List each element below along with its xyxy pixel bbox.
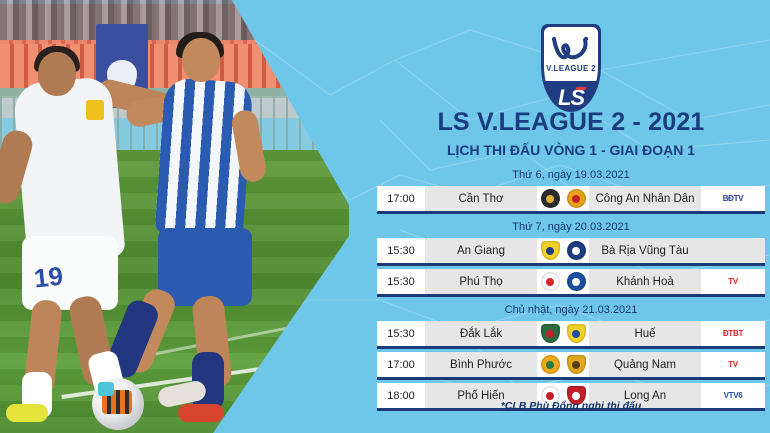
- dtbt-logo: ĐTBT: [723, 329, 743, 338]
- player-blue-boot-right: [178, 404, 224, 422]
- broadcaster-cell: BĐTV: [701, 186, 765, 211]
- ba-ria-vung-tau-crest: [567, 241, 586, 260]
- cong-an-nhan-dan-crest: [567, 189, 586, 208]
- home-team-name: Bình Phước: [425, 352, 537, 377]
- home-team-name: Phú Thọ: [425, 269, 537, 294]
- page-title: LS V.LEAGUE 2 - 2021: [372, 110, 770, 135]
- away-crest-cell: [563, 352, 589, 377]
- binh-phuoc-crest: [541, 355, 560, 374]
- player-white-shirt-number: 19: [32, 261, 64, 295]
- sponsor-mark-text: LS: [544, 85, 598, 109]
- broadcaster-cell: [701, 238, 765, 263]
- match-row[interactable]: 15:30An GiangBà Rịa Vũng Tàu: [377, 238, 765, 266]
- an-giang-crest: [541, 241, 560, 260]
- away-crest-cell: [563, 186, 589, 211]
- away-crest-cell: [563, 321, 589, 346]
- date-header: Thứ 7, ngày 20.03.2021: [377, 217, 765, 238]
- away-team-name: Khánh Hoà: [589, 269, 701, 294]
- broadcaster-cell: TV: [701, 352, 765, 377]
- football-icon: [92, 378, 144, 430]
- home-crest-cell: [537, 238, 563, 263]
- schedule-panel: V.LEAGUE 2 LS LS V.LEAGUE 2 - 2021 LỊCH …: [372, 0, 770, 433]
- away-team-name: Quảng Nam: [589, 352, 701, 377]
- footnote-text: *CLB Phù Đổng nghi thi đấu: [501, 400, 642, 412]
- player-blue-shorts: [158, 228, 252, 306]
- broadcaster-cell: ĐTBT: [701, 321, 765, 346]
- match-time: 15:30: [377, 321, 425, 346]
- ls-accent-tick: [575, 87, 586, 90]
- red-star-tv-logo: TV: [728, 360, 738, 369]
- home-team-name: Cần Thơ: [425, 186, 537, 211]
- fixtures-table: Thứ 6, ngày 19.03.202117:00Cần ThơCông A…: [377, 165, 765, 414]
- bong-da-tv-logo: BĐTV: [723, 194, 744, 203]
- v-league-swoosh-icon: [551, 35, 591, 63]
- player-white-head: [38, 52, 76, 96]
- broadcaster-cell: TV: [701, 269, 765, 294]
- home-team-name: Đắk Lắk: [425, 321, 537, 346]
- khanh-hoa-crest: [567, 272, 586, 291]
- home-team-name: An Giang: [425, 238, 537, 263]
- footnote: *CLB Phù Đổng nghi thi đấu: [372, 396, 770, 414]
- poster-canvas: 19 V.LEAGUE 2 LS LS V.LEAGUE 2 - 2021 LỊ…: [0, 0, 770, 433]
- v-league-2-ls-shield-logo: V.LEAGUE 2 LS: [541, 24, 601, 112]
- hue-crest: [567, 324, 586, 343]
- away-crest-cell: [563, 269, 589, 294]
- phu-tho-crest: [541, 272, 560, 291]
- match-time: 17:00: [377, 186, 425, 211]
- match-time: 15:30: [377, 238, 425, 263]
- home-crest-cell: [537, 321, 563, 346]
- away-team-name: Công An Nhân Dân: [589, 186, 701, 211]
- home-crest-cell: [537, 352, 563, 377]
- page-subtitle: LỊCH THI ĐẤU VÒNG 1 - GIAI ĐOẠN 1: [372, 143, 770, 157]
- player-blue-head: [182, 38, 220, 82]
- quang-nam-crest: [567, 355, 586, 374]
- match-row[interactable]: 15:30Đắk LắkHuếĐTBT: [377, 321, 765, 349]
- match-time: 15:30: [377, 269, 425, 294]
- match-time: 17:00: [377, 352, 425, 377]
- away-team-name: Huế: [589, 321, 701, 346]
- date-header: Chủ nhật, ngày 21.03.2021: [377, 300, 765, 321]
- dak-lak-crest: [541, 324, 560, 343]
- player-white-sleeve-badge: [86, 100, 104, 120]
- date-header: Thứ 6, ngày 19.03.2021: [377, 165, 765, 186]
- home-crest-cell: [537, 269, 563, 294]
- can-tho-crest: [541, 189, 560, 208]
- home-crest-cell: [537, 186, 563, 211]
- league-mark-text: V.LEAGUE 2: [544, 64, 598, 73]
- player-white-boot: [6, 404, 48, 422]
- away-crest-cell: [563, 238, 589, 263]
- away-team-name: Bà Rịa Vũng Tàu: [589, 238, 701, 263]
- match-row[interactable]: 17:00Bình PhướcQuảng NamTV: [377, 352, 765, 380]
- match-row[interactable]: 15:30Phú ThọKhánh HoàTV: [377, 269, 765, 297]
- red-star-tv-logo: TV: [728, 277, 738, 286]
- match-row[interactable]: 17:00Cần ThơCông An Nhân DânBĐTV: [377, 186, 765, 214]
